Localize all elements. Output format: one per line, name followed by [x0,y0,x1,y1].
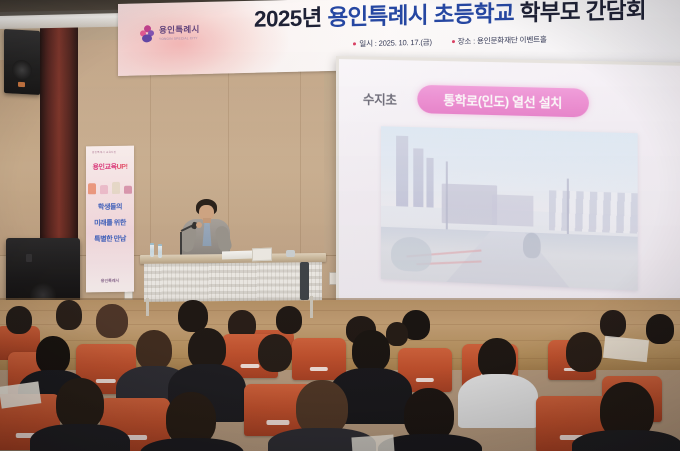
audience-head [136,330,172,370]
audience-shoulder [572,430,680,451]
event-photo-scene: 용인특례시 YONGIN SPECIAL CITY 2025년 용인특례시 초등… [0,0,680,451]
audience-head [56,300,82,330]
handout-paper [351,435,394,451]
audience-head [56,378,104,430]
audience-head [258,334,292,372]
audience-head [96,304,128,338]
audience-head [352,330,390,372]
audience-shoulder [30,424,130,451]
audience-head [36,336,70,374]
audience [0,0,680,451]
seat [292,338,346,380]
audience-head [6,306,32,334]
handout-paper [603,336,649,362]
audience-head [386,322,408,346]
audience-head [600,310,626,338]
audience-head [566,332,602,372]
audience-shoulder [458,374,538,428]
audience-head [646,314,674,344]
audience-head [276,306,302,334]
